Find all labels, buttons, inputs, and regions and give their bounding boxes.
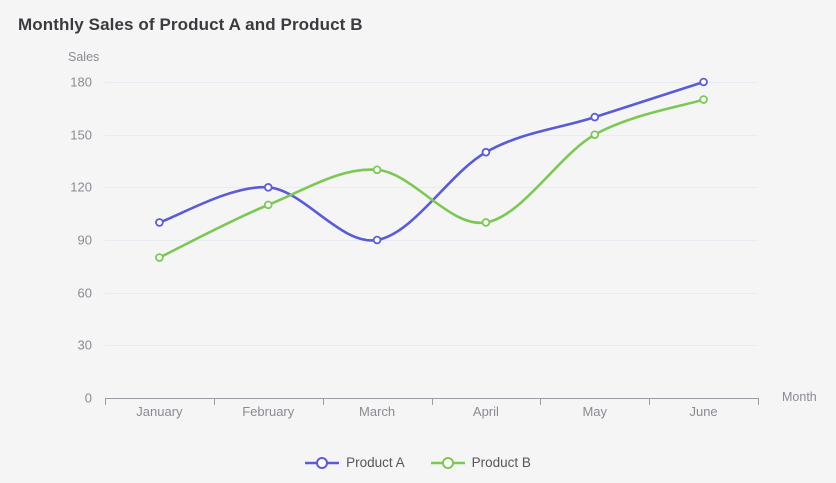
y-tick-label: 120 <box>70 180 92 195</box>
legend-label: Product B <box>472 455 531 470</box>
x-tick-label: February <box>242 404 294 419</box>
data-point-marker[interactable] <box>700 96 707 103</box>
x-tick-mark <box>432 398 433 405</box>
data-point-marker[interactable] <box>483 149 490 156</box>
chart-title: Monthly Sales of Product A and Product B <box>18 15 363 35</box>
x-tick-mark <box>649 398 650 405</box>
y-tick-label: 150 <box>70 127 92 142</box>
y-tick-label: 180 <box>70 75 92 90</box>
x-tick-mark <box>540 398 541 405</box>
x-tick-label: March <box>359 404 395 419</box>
y-axis-tick-labels: 0306090120150180 <box>40 82 92 398</box>
x-tick-label: April <box>473 404 499 419</box>
y-tick-label: 0 <box>85 391 92 406</box>
x-tick-mark <box>214 398 215 405</box>
legend-label: Product A <box>346 455 405 470</box>
data-point-marker[interactable] <box>700 79 707 86</box>
data-point-marker[interactable] <box>591 131 598 138</box>
y-tick-label: 90 <box>78 233 92 248</box>
series-line-product-b <box>159 100 703 258</box>
x-tick-label: January <box>136 404 182 419</box>
data-point-marker[interactable] <box>265 201 272 208</box>
legend-item-product-b[interactable]: Product B <box>431 455 531 470</box>
data-point-marker[interactable] <box>591 114 598 121</box>
data-point-marker[interactable] <box>374 166 381 173</box>
data-point-marker[interactable] <box>265 184 272 191</box>
series-layer <box>105 82 758 398</box>
line-chart: Monthly Sales of Product A and Product B… <box>0 0 836 483</box>
data-point-marker[interactable] <box>156 254 163 261</box>
data-point-marker[interactable] <box>374 237 381 244</box>
legend-item-product-a[interactable]: Product A <box>305 455 405 470</box>
x-axis-title: Month <box>782 390 817 404</box>
x-tick-mark <box>105 398 106 405</box>
chart-legend: Product AProduct B <box>0 455 836 470</box>
x-tick-label: June <box>689 404 717 419</box>
legend-marker-icon <box>305 456 339 470</box>
plot-area <box>105 82 758 398</box>
y-axis-title: Sales <box>68 50 99 64</box>
x-tick-label: May <box>582 404 607 419</box>
x-tick-mark <box>323 398 324 405</box>
y-tick-label: 30 <box>78 338 92 353</box>
legend-marker-icon <box>431 456 465 470</box>
data-point-marker[interactable] <box>483 219 490 226</box>
y-tick-label: 60 <box>78 285 92 300</box>
data-point-marker[interactable] <box>156 219 163 226</box>
x-tick-mark <box>758 398 759 405</box>
